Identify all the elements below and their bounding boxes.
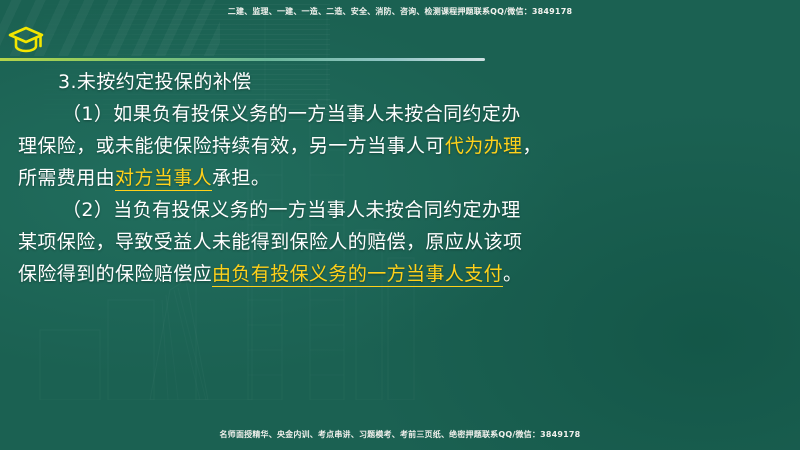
paragraph-item-2: （2）当负有投保义务的一方当事人未按合同约定办理某项保险，导致受益人未能得到保险… <box>18 194 590 290</box>
text-segment: 。 <box>503 263 522 285</box>
text-line: 所需费用由对方当事人承担。 <box>18 162 590 194</box>
text-line: 保险得到的保险赔偿应由负有投保义务的一方当事人支付。 <box>18 258 590 290</box>
text-line: 理保险，或未能使保险持续有效，另一方当事人可代为办理， <box>18 130 590 162</box>
highlighted-text-segment: 代为办理 <box>445 135 523 157</box>
text-segment: （1）如果负有投保义务的一方当事人未按合同约定办 <box>62 103 521 125</box>
top-banner-text: 二建、监理、一建、一造、二造、安全、消防、咨询、检测课程押题联系QQ/微信：38… <box>228 6 572 17</box>
text-segment: （2）当负有投保义务的一方当事人未按合同约定办理 <box>62 199 521 221</box>
text-segment: 保险得到的保险赔偿应 <box>18 263 212 285</box>
paragraph-list: （1）如果负有投保义务的一方当事人未按合同约定办理保险，或未能使保险持续有效，另… <box>18 98 590 290</box>
text-segment: 某项保险，导致受益人未能得到保险人的赔偿，原应从该项 <box>18 231 522 253</box>
highlighted-text-segment: 对方当事人 <box>115 167 212 191</box>
paragraph-item-1: （1）如果负有投保义务的一方当事人未按合同约定办理保险，或未能使保险持续有效，另… <box>18 98 590 194</box>
text-segment: 所需费用由 <box>18 167 115 189</box>
slide-body: 3.未按约定投保的补偿 （1）如果负有投保义务的一方当事人未按合同约定办理保险，… <box>18 66 590 290</box>
header-divider <box>0 58 485 61</box>
bottom-banner: 名师面授精华、央金内训、考点串讲、习题模考、考前三页纸、绝密押题联系QQ/微信：… <box>0 424 800 444</box>
text-segment: ， <box>522 135 541 157</box>
section-heading: 3.未按约定投保的补偿 <box>18 66 590 98</box>
text-line: （1）如果负有投保义务的一方当事人未按合同约定办 <box>18 98 590 130</box>
text-line: 某项保险，导致受益人未能得到保险人的赔偿，原应从该项 <box>18 226 590 258</box>
text-segment: 承担。 <box>212 167 270 189</box>
highlighted-text-segment: 由负有投保义务的一方当事人支付 <box>212 263 503 287</box>
text-line: （2）当负有投保义务的一方当事人未按合同约定办理 <box>18 194 590 226</box>
graduation-cap-logo <box>2 20 50 58</box>
text-segment: 理保险，或未能使保险持续有效，另一方当事人可 <box>18 135 445 157</box>
bottom-banner-text: 名师面授精华、央金内训、考点串讲、习题模考、考前三页纸、绝密押题联系QQ/微信：… <box>220 429 581 440</box>
top-banner: 二建、监理、一建、一造、二造、安全、消防、咨询、检测课程押题联系QQ/微信：38… <box>0 0 800 22</box>
slide-canvas: 二建、监理、一建、一造、二造、安全、消防、咨询、检测课程押题联系QQ/微信：38… <box>0 0 800 450</box>
